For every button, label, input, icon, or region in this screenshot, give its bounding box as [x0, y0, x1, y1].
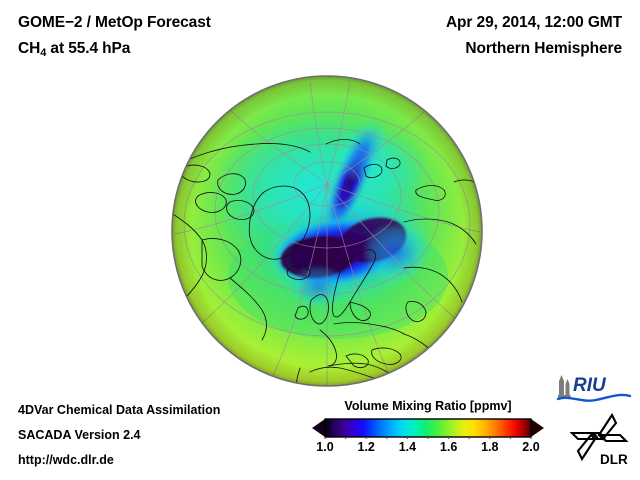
colorbar-tick-labels: 1.0 1.2 1.4 1.6 1.8 2.0: [312, 440, 544, 458]
colorbar-left-cap: [312, 419, 325, 437]
figure-root: GOME−2 / MetOp Forecast CH4 at 55.4 hPa …: [0, 0, 640, 480]
species-level-title: CH4 at 55.4 hPa: [18, 40, 130, 59]
colorbar-bar: [325, 419, 531, 437]
website-link[interactable]: http://wdc.dlr.de: [18, 453, 114, 467]
orthographic-projection: [168, 72, 486, 390]
riu-wordmark: RIU: [573, 375, 607, 396]
dlr-wordmark: DLR: [600, 452, 628, 467]
dlr-logo: DLR: [566, 409, 632, 467]
globe-map: [168, 72, 486, 390]
coastline-arabian-peninsula: [430, 372, 456, 388]
version-label: SACADA Version 2.4: [18, 428, 141, 442]
species-label: CH: [18, 40, 40, 57]
colorbar-tick-2: 1.4: [399, 440, 416, 454]
colorbar-tick-5: 2.0: [522, 440, 539, 454]
hemisphere-label: Northern Hemisphere: [465, 40, 622, 58]
colorbar: Volume Mixing Ratio [ppmv]: [312, 399, 544, 458]
colorbar-gradient: [312, 417, 544, 439]
instrument-title: GOME−2 / MetOp Forecast: [18, 14, 211, 32]
colorbar-right-cap: [531, 419, 544, 437]
colorbar-title: Volume Mixing Ratio [ppmv]: [312, 399, 544, 413]
colorbar-tick-3: 1.6: [440, 440, 457, 454]
colorbar-tick-1: 1.2: [357, 440, 374, 454]
method-label: 4DVar Chemical Data Assimilation: [18, 403, 220, 417]
datetime-label: Apr 29, 2014, 12:00 GMT: [446, 14, 622, 32]
colorbar-tick-0: 1.0: [316, 440, 333, 454]
colorbar-tick-4: 1.8: [481, 440, 498, 454]
limb-shading: [172, 76, 482, 386]
riu-logo: RIU: [556, 371, 632, 405]
level-label: at 55.4 hPa: [46, 40, 130, 57]
riu-tower-icon: [558, 375, 571, 398]
